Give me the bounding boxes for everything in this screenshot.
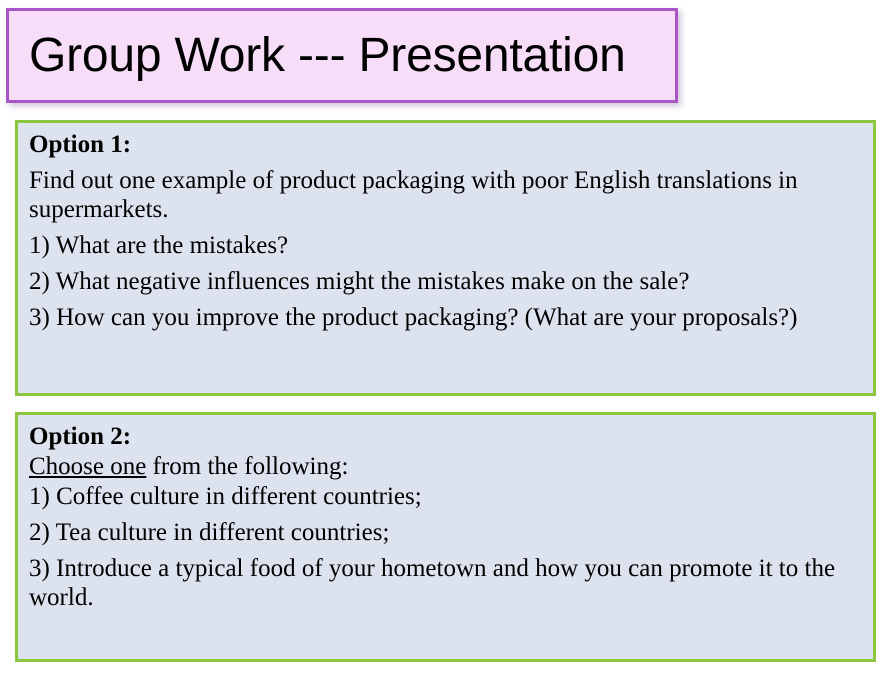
option-1-line-3: 2) What negative influences might the mi… [29, 267, 863, 296]
page-title: Group Work --- Presentation [9, 32, 626, 80]
option-2-box: Option 2: Choose one from the following:… [15, 412, 876, 662]
slide-canvas: Group Work --- Presentation Option 1: Fi… [0, 0, 890, 675]
option-2-heading: Option 2: [29, 422, 863, 451]
option-2-line-2: 2) Tea culture in different countries; [29, 518, 863, 547]
option-2-subheading: Choose one from the following: [29, 452, 863, 481]
option-2-line-3: 3) Introduce a typical food of your home… [29, 554, 863, 612]
option-1-line-1: Find out one example of product packagin… [29, 166, 863, 224]
option-1-heading: Option 1: [29, 130, 863, 159]
slide-title-box: Group Work --- Presentation [6, 8, 678, 103]
option-1-box: Option 1: Find out one example of produc… [15, 120, 876, 396]
option-1-line-4: 3) How can you improve the product packa… [29, 303, 863, 332]
option-2-line-1: 1) Coffee culture in different countries… [29, 482, 863, 511]
option-2-subheading-rest: from the following: [146, 453, 348, 480]
option-1-line-2: 1) What are the mistakes? [29, 231, 863, 260]
option-2-subheading-underlined: Choose one [29, 453, 146, 480]
